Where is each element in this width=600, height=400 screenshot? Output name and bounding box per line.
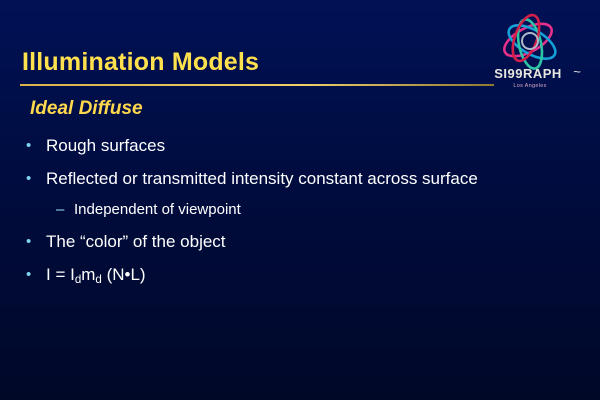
- slide-subtitle: Ideal Diffuse: [30, 98, 143, 120]
- logo-tilde: ~: [573, 64, 581, 79]
- title-divider: [20, 84, 494, 86]
- formula-lead: I = I: [46, 265, 75, 284]
- bullet-text: Rough surfaces: [46, 136, 586, 156]
- list-item-formula: • I = Idmd (N•L): [26, 265, 586, 285]
- bullet-marker: •: [26, 169, 46, 186]
- bullet-list: • Rough surfaces • Reflected or transmit…: [26, 136, 586, 297]
- bullet-text: Reflected or transmitted intensity const…: [46, 169, 586, 189]
- formula-tail: (N•L): [102, 265, 146, 284]
- bullet-text: Independent of viewpoint: [74, 201, 586, 218]
- list-item: • Rough surfaces: [26, 136, 586, 156]
- list-item-sub: – Independent of viewpoint: [26, 201, 586, 218]
- formula-mid: m: [81, 265, 95, 284]
- slide: SI99RAPH ~ Los Angeles Illumination Mode…: [0, 0, 600, 400]
- bullet-text-formula: I = Idmd (N•L): [46, 265, 586, 285]
- siggraph-logo: SI99RAPH ~ Los Angeles: [476, 10, 586, 102]
- list-item: • The “color” of the object: [26, 232, 586, 252]
- page-title: Illumination Models: [22, 48, 259, 77]
- bullet-marker-dash: –: [56, 201, 74, 217]
- list-item: • Reflected or transmitted intensity con…: [26, 169, 586, 189]
- logo-sublabel: Los Angeles: [513, 83, 546, 89]
- bullet-marker: •: [26, 136, 46, 153]
- bullet-text: The “color” of the object: [46, 232, 586, 252]
- bullet-marker: •: [26, 232, 46, 249]
- logo-wordmark: SI99RAPH: [494, 66, 562, 81]
- formula-sub-1: d: [75, 274, 81, 286]
- bullet-marker: •: [26, 265, 46, 282]
- formula-sub-2: d: [95, 274, 101, 286]
